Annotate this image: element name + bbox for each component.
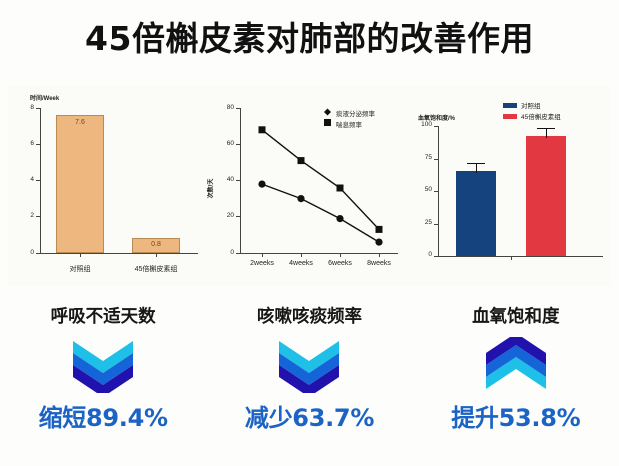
chart3-errorcap-treatment <box>537 128 555 129</box>
result-respiratory-discomfort: 缩短89.4% <box>0 398 206 433</box>
chart2-legend-marker-square <box>324 119 331 126</box>
chart1-ytick-label: 6 <box>14 140 34 147</box>
chart2-marker-diamond <box>375 239 382 246</box>
result-cough-frequency: 减少63.7% <box>206 398 412 433</box>
chart3-legend-swatch-control <box>503 103 517 108</box>
chart2-marker-square <box>298 157 305 164</box>
triple-chevron-down-icon <box>67 337 139 393</box>
chart2-xtick-label: 6weeks <box>320 260 360 267</box>
arrow-cell-2 <box>206 336 412 394</box>
chart3-bar-control <box>456 171 496 256</box>
caption-blood-oxygen-saturation: 血氧饱和度 <box>413 303 619 328</box>
result-row: 缩短89.4% 减少63.7% 提升53.8% <box>0 398 619 433</box>
chart2-marker-diamond <box>297 195 304 202</box>
chart3-xtick-mark <box>511 257 512 260</box>
caption-cough-frequency: 咳嗽咳痰频率 <box>206 303 412 328</box>
chart1-y-axis-title: 时间/Week <box>30 93 59 102</box>
chart3-ytick-mark <box>434 224 438 225</box>
chart1-xtick-mark <box>80 254 81 257</box>
chart2-marker-diamond <box>336 215 343 222</box>
chart1-ytick-mark <box>36 180 40 181</box>
chart3-errorbar-control <box>476 163 477 173</box>
chart3-legend-swatch-treatment <box>503 114 517 119</box>
chart1-bar-value-treatment: 0.8 <box>132 241 180 248</box>
chart3-x-axis <box>438 256 603 257</box>
chart2-marker-square <box>259 126 266 133</box>
chart3-ytick-mark <box>434 126 438 127</box>
chart1-xtick-label-treatment: 45倍槲皮素组 <box>120 264 192 274</box>
chart1-y-axis <box>40 108 41 253</box>
chart1-ytick-label: 8 <box>14 104 34 111</box>
chart2-line-wheeze <box>262 130 379 230</box>
chart2-line-sputum <box>262 184 379 242</box>
chart2-plot <box>208 86 408 286</box>
triple-chevron-down-icon <box>273 337 345 393</box>
chart3-ytick-label: 50 <box>408 186 432 193</box>
arrow-cell-1 <box>0 336 206 394</box>
chart2-xtick-label: 2weeks <box>242 260 282 267</box>
caption-respiratory-discomfort-days: 呼吸不适天数 <box>0 303 206 328</box>
chart1-ytick-mark <box>36 144 40 145</box>
chart2-xtick-label: 8weeks <box>359 260 399 267</box>
chart3-y-axis <box>438 126 439 256</box>
chart2-legend-marker-diamond <box>324 109 331 116</box>
chart2-marker-square <box>376 226 383 233</box>
chart1-x-axis <box>40 253 198 254</box>
chart2-xtick-label: 4weeks <box>281 260 321 267</box>
chart1-ytick-mark <box>36 216 40 217</box>
chart2-xtick-mark <box>301 254 302 257</box>
chart1-ytick-label: 2 <box>14 212 34 219</box>
chart1-bar-control <box>56 115 104 253</box>
chart-blood-oxygen: 对照组 45倍槲皮素组 血氧饱和度/% 100 75 50 25 0 <box>408 86 611 286</box>
chart3-ytick-mark <box>434 256 438 257</box>
chart3-bar-treatment <box>526 136 566 256</box>
caption-row: 呼吸不适天数 咳嗽咳痰频率 血氧饱和度 <box>0 303 619 328</box>
chart1-bar-value-control: 7.6 <box>56 119 104 126</box>
page-title: 45倍槲皮素对肺部的改善作用 <box>0 12 619 60</box>
chart2-xtick-mark <box>262 254 263 257</box>
chart1-ytick-mark <box>36 253 40 254</box>
chart3-ytick-label: 100 <box>408 121 432 128</box>
chart3-ytick-mark <box>434 191 438 192</box>
charts-strip: 时间/Week 8 6 4 2 0 7.6 0.8 对照组 45倍槲皮素组 <box>8 86 611 286</box>
chart2-xtick-mark <box>379 254 380 257</box>
chart1-ytick-label: 0 <box>14 249 34 256</box>
triple-chevron-up-icon <box>480 337 552 393</box>
chart3-errorbar-treatment <box>546 128 547 138</box>
chart2-legend-label-sputum: 痰液分泌频率 <box>336 108 375 118</box>
chart3-ytick-label: 25 <box>408 219 432 226</box>
chart1-ytick-mark <box>36 108 40 109</box>
result-blood-oxygen: 提升53.8% <box>413 398 619 433</box>
chart3-ytick-label: 75 <box>408 154 432 161</box>
arrow-cell-3 <box>413 336 619 394</box>
chart1-ytick-label: 4 <box>14 176 34 183</box>
chart3-errorcap-control <box>467 163 485 164</box>
chart-cough-frequency: 次数/天 80 60 40 20 0 <box>208 86 408 286</box>
chart3-legend-label-control: 对照组 <box>521 100 541 110</box>
chart-days-of-discomfort: 时间/Week 8 6 4 2 0 7.6 0.8 对照组 45倍槲皮素组 <box>8 86 208 286</box>
chart3-legend-label-treatment: 45倍槲皮素组 <box>521 111 561 121</box>
arrow-row <box>0 336 619 394</box>
chart1-xtick-mark <box>156 254 157 257</box>
chart2-marker-diamond <box>258 181 265 188</box>
chart2-legend-label-wheeze: 喘息频率 <box>336 119 362 129</box>
chart2-xtick-mark <box>340 254 341 257</box>
chart2-marker-square <box>337 185 344 192</box>
chart1-xtick-label-control: 对照组 <box>50 264 110 274</box>
poster-root: 45倍槲皮素对肺部的改善作用 时间/Week 8 6 4 2 0 7.6 0.8 <box>0 0 619 466</box>
chart3-ytick-mark <box>434 159 438 160</box>
chart3-ytick-label: 0 <box>408 251 432 258</box>
